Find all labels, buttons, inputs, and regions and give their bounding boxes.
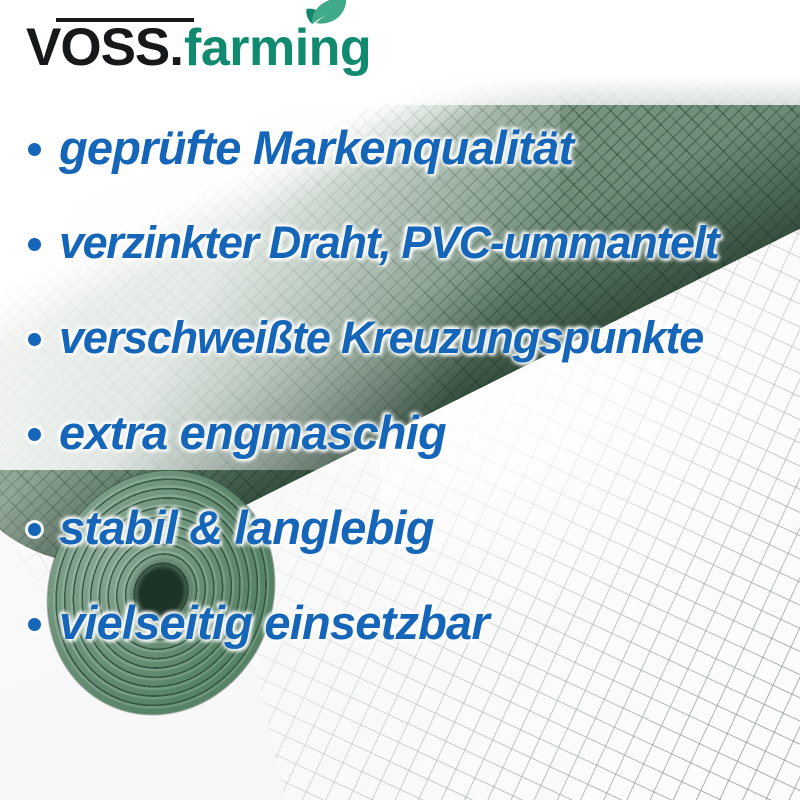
- radical-bar-icon: [56, 18, 194, 22]
- bullet-dot-icon: [28, 333, 41, 346]
- bullet-dot-icon: [28, 428, 41, 441]
- leaf-icon: [305, 0, 347, 26]
- bullet-dot-icon: [28, 143, 41, 156]
- feature-list: geprüfte Markenqualität verzinkter Draht…: [0, 100, 800, 670]
- brand-separator: .: [169, 21, 184, 74]
- brand-logo[interactable]: VOSS . farming: [26, 12, 371, 74]
- list-item: verzinkter Draht, PVC-ummantelt: [0, 195, 800, 290]
- list-item: verschweißte Kreuzungspunkte: [0, 290, 800, 385]
- bullet-dot-icon: [28, 618, 41, 631]
- feature-label-1: geprüfte Markenqualität: [59, 124, 573, 171]
- feature-label-6: vielseitig einsetzbar: [59, 599, 489, 646]
- feature-label-4: extra engmaschig: [59, 409, 446, 456]
- brand-name-primary: VOSS: [26, 21, 169, 74]
- list-item: extra engmaschig: [0, 385, 800, 480]
- brand-name-secondary-text: farming: [184, 19, 371, 77]
- feature-label-3: verschweißte Kreuzungspunkte: [59, 315, 703, 360]
- list-item: stabil & langlebig: [0, 480, 800, 575]
- brand-name-secondary: farming: [184, 22, 371, 74]
- bullet-dot-icon: [28, 238, 41, 251]
- bullet-dot-icon: [28, 523, 41, 536]
- product-feature-image: VOSS . farming geprüfte Markenqualität v…: [0, 0, 800, 800]
- feature-label-2: verzinkter Draht, PVC-ummantelt: [59, 220, 718, 265]
- list-item: geprüfte Markenqualität: [0, 100, 800, 195]
- brand-name-primary-text: VOSS: [26, 18, 169, 77]
- list-item: vielseitig einsetzbar: [0, 575, 800, 670]
- feature-label-5: stabil & langlebig: [59, 504, 434, 551]
